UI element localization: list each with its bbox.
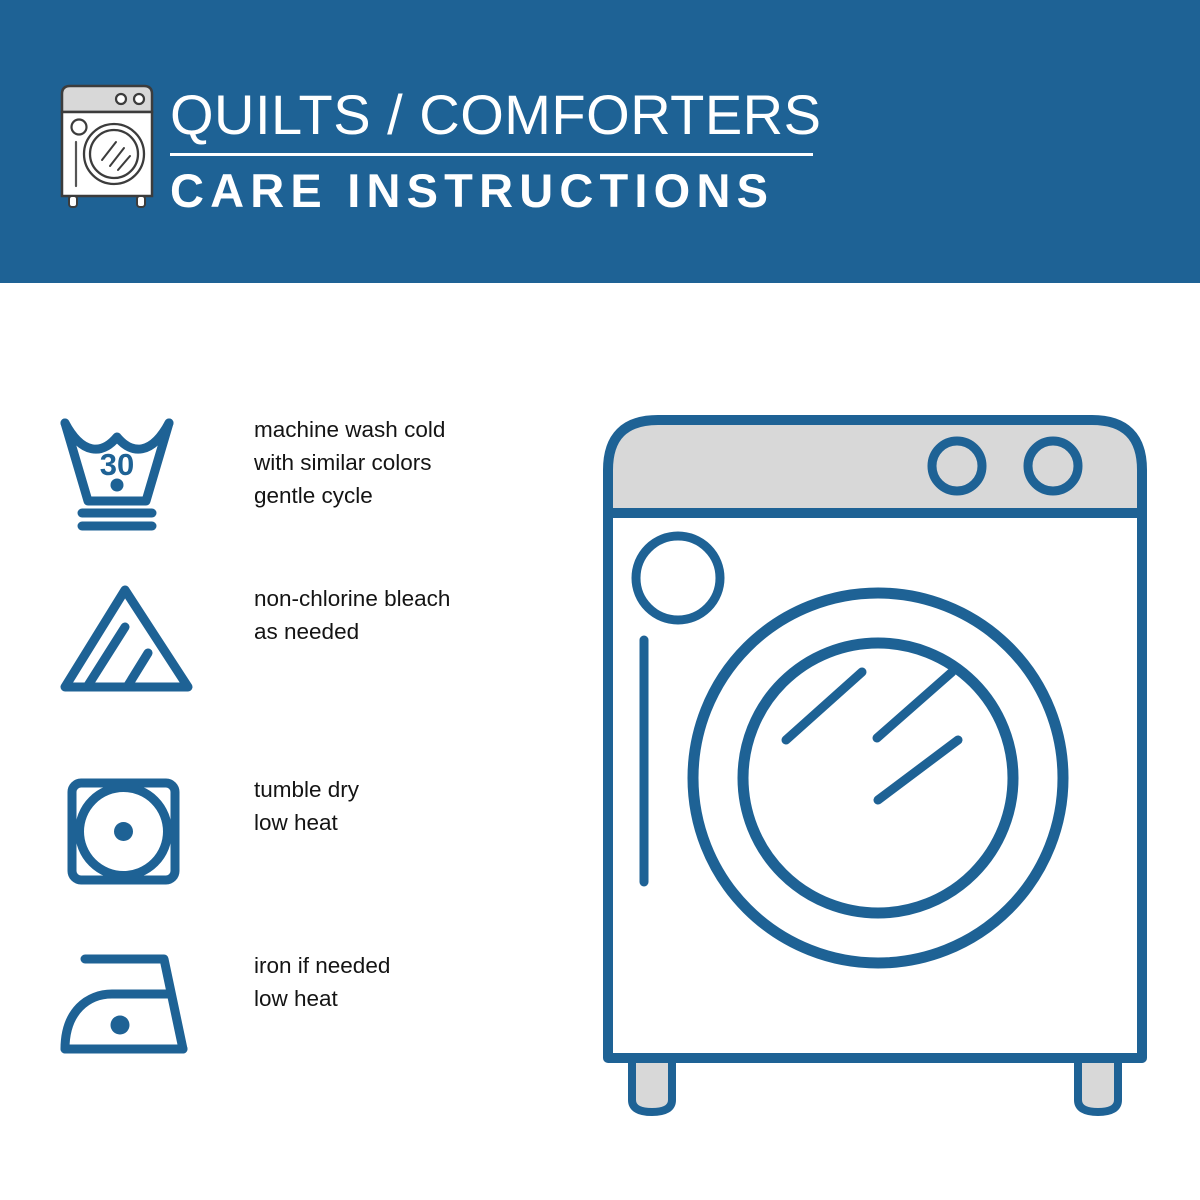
care-line: with similar colors [254, 446, 534, 479]
front-load-washing-machine-illustration [590, 400, 1170, 1130]
header-banner: QUILTS / COMFORTERS CARE INSTRUCTIONS [0, 0, 1200, 283]
care-text-machine-wash: machine wash cold with similar colors ge… [254, 413, 534, 512]
washer-door-inner-ring [743, 643, 1013, 913]
care-line: machine wash cold [254, 413, 534, 446]
care-instruction-list: 30 machine wash cold with similar colors… [0, 283, 560, 1200]
care-line: iron if needed [254, 949, 534, 982]
page-title: QUILTS / COMFORTERS [170, 84, 820, 146]
tumble-dry-low-icon [60, 773, 195, 893]
care-line: gentle cycle [254, 479, 534, 512]
page-subtitle: CARE INSTRUCTIONS [170, 165, 820, 217]
title-divider [170, 153, 813, 156]
care-text-iron: iron if needed low heat [254, 949, 534, 1015]
washer-indicator-circle [636, 536, 720, 620]
care-line: non-chlorine bleach [254, 582, 534, 615]
care-line: tumble dry [254, 773, 534, 806]
bleach-triangle-stripes-icon [60, 582, 195, 702]
care-text-bleach: non-chlorine bleach as needed [254, 582, 534, 648]
care-line: low heat [254, 806, 534, 839]
iron-low-heat-icon [60, 949, 195, 1069]
header-title-group: QUILTS / COMFORTERS CARE INSTRUCTIONS [170, 84, 820, 217]
care-line: low heat [254, 982, 534, 1015]
washing-machine-icon [52, 82, 162, 210]
washer-foot-left [632, 1055, 672, 1112]
washer-foot-right [1078, 1055, 1118, 1112]
washer-knob-right [1028, 441, 1078, 491]
care-line: as needed [254, 615, 534, 648]
care-text-tumble-dry: tumble dry low heat [254, 773, 534, 839]
wash-temperature-label: 30 [100, 447, 134, 482]
wash-tub-30-gentle-icon: 30 [60, 413, 195, 533]
washer-knob-left [932, 441, 982, 491]
